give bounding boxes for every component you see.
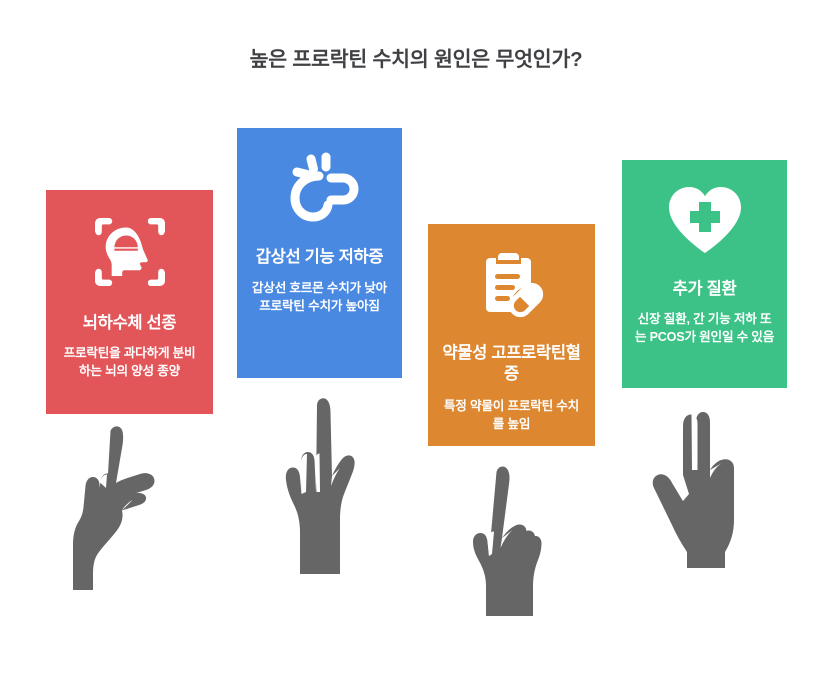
card-hypothyroidism[interactable]: 갑상선 기능 저하증 갑상선 호르몬 수치가 낮아 프로락틴 수치가 높아짐: [237, 128, 402, 378]
pointing-hand-icon: [66, 424, 178, 595]
card-title: 약물성 고프로락틴혈증: [440, 343, 583, 386]
card-title: 갑상선 기능 저하증: [256, 247, 384, 268]
infographic-canvas: 높은 프로락틴 수치의 원인은 무엇인가? 뇌하수체 선종 프로락: [0, 0, 832, 700]
card-pituitary-adenoma[interactable]: 뇌하수체 선종 프로락틴을 과다하게 분비하는 뇌의 양성 종양: [46, 190, 213, 414]
pointing-hand-icon: [460, 464, 552, 621]
clipboard-pill-icon: [476, 250, 548, 327]
card-description: 프로락틴을 과다하게 분비하는 뇌의 양성 종양: [58, 345, 201, 381]
heart-cross-icon: [665, 184, 745, 261]
head-scan-icon: [91, 214, 169, 295]
card-description: 특정 약물이 프로락틴 수치를 높임: [440, 398, 583, 434]
card-title: 뇌하수체 선종: [83, 313, 177, 334]
card-title: 추가 질환: [673, 279, 737, 300]
page-title: 높은 프로락틴 수치의 원인은 무엇인가?: [0, 42, 832, 72]
pointing-hand-icon: [645, 412, 757, 589]
card-drug-induced-hyperprolactinemia[interactable]: 약물성 고프로락틴혈증 특정 약물이 프로락틴 수치를 높임: [428, 224, 595, 446]
card-description: 신장 질환, 간 기능 저하 또는 PCOS가 원인일 수 있음: [634, 311, 775, 347]
card-description: 갑상선 호르몬 수치가 낮아 프로락틴 수치가 높아짐: [249, 280, 390, 316]
pointing-hand-icon: [274, 396, 370, 579]
card-other-conditions[interactable]: 추가 질환 신장 질환, 간 기능 저하 또는 PCOS가 원인일 수 있음: [622, 160, 787, 388]
thyroid-gland-icon: [278, 152, 362, 231]
